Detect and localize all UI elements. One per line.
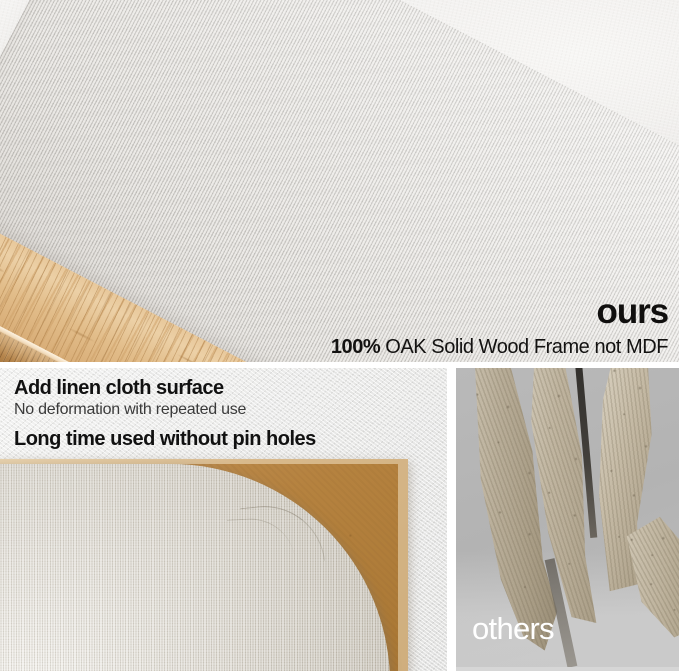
panel-linen-board-detail: Add linen cloth surface No deformation w… <box>0 368 447 671</box>
linen-heading: Add linen cloth surface <box>14 377 224 399</box>
ours-caption: 100% OAK Solid Wood Frame not MDF <box>331 337 668 357</box>
panel-mdf-breakage-detail: others <box>456 368 679 671</box>
horizontal-divider <box>0 362 679 368</box>
ours-caption-rest: OAK Solid Wood Frame not MDF <box>380 336 668 358</box>
panel-oak-frame-macro: ours 100% OAK Solid Wood Frame not MDF <box>0 0 679 363</box>
bottom-light-strip <box>456 667 679 671</box>
infographic-canvas: ours 100% OAK Solid Wood Frame not MDF A… <box>0 0 679 671</box>
peeling-linen-sheet <box>0 464 390 671</box>
ours-label: ours <box>597 294 668 329</box>
linen-subheading: No deformation with repeated use <box>14 401 246 419</box>
vertical-divider <box>447 366 456 671</box>
ours-caption-percent: 100% <box>331 336 380 358</box>
linen-heading-secondary: Long time used without pin holes <box>14 428 316 450</box>
others-label: others <box>472 613 554 644</box>
